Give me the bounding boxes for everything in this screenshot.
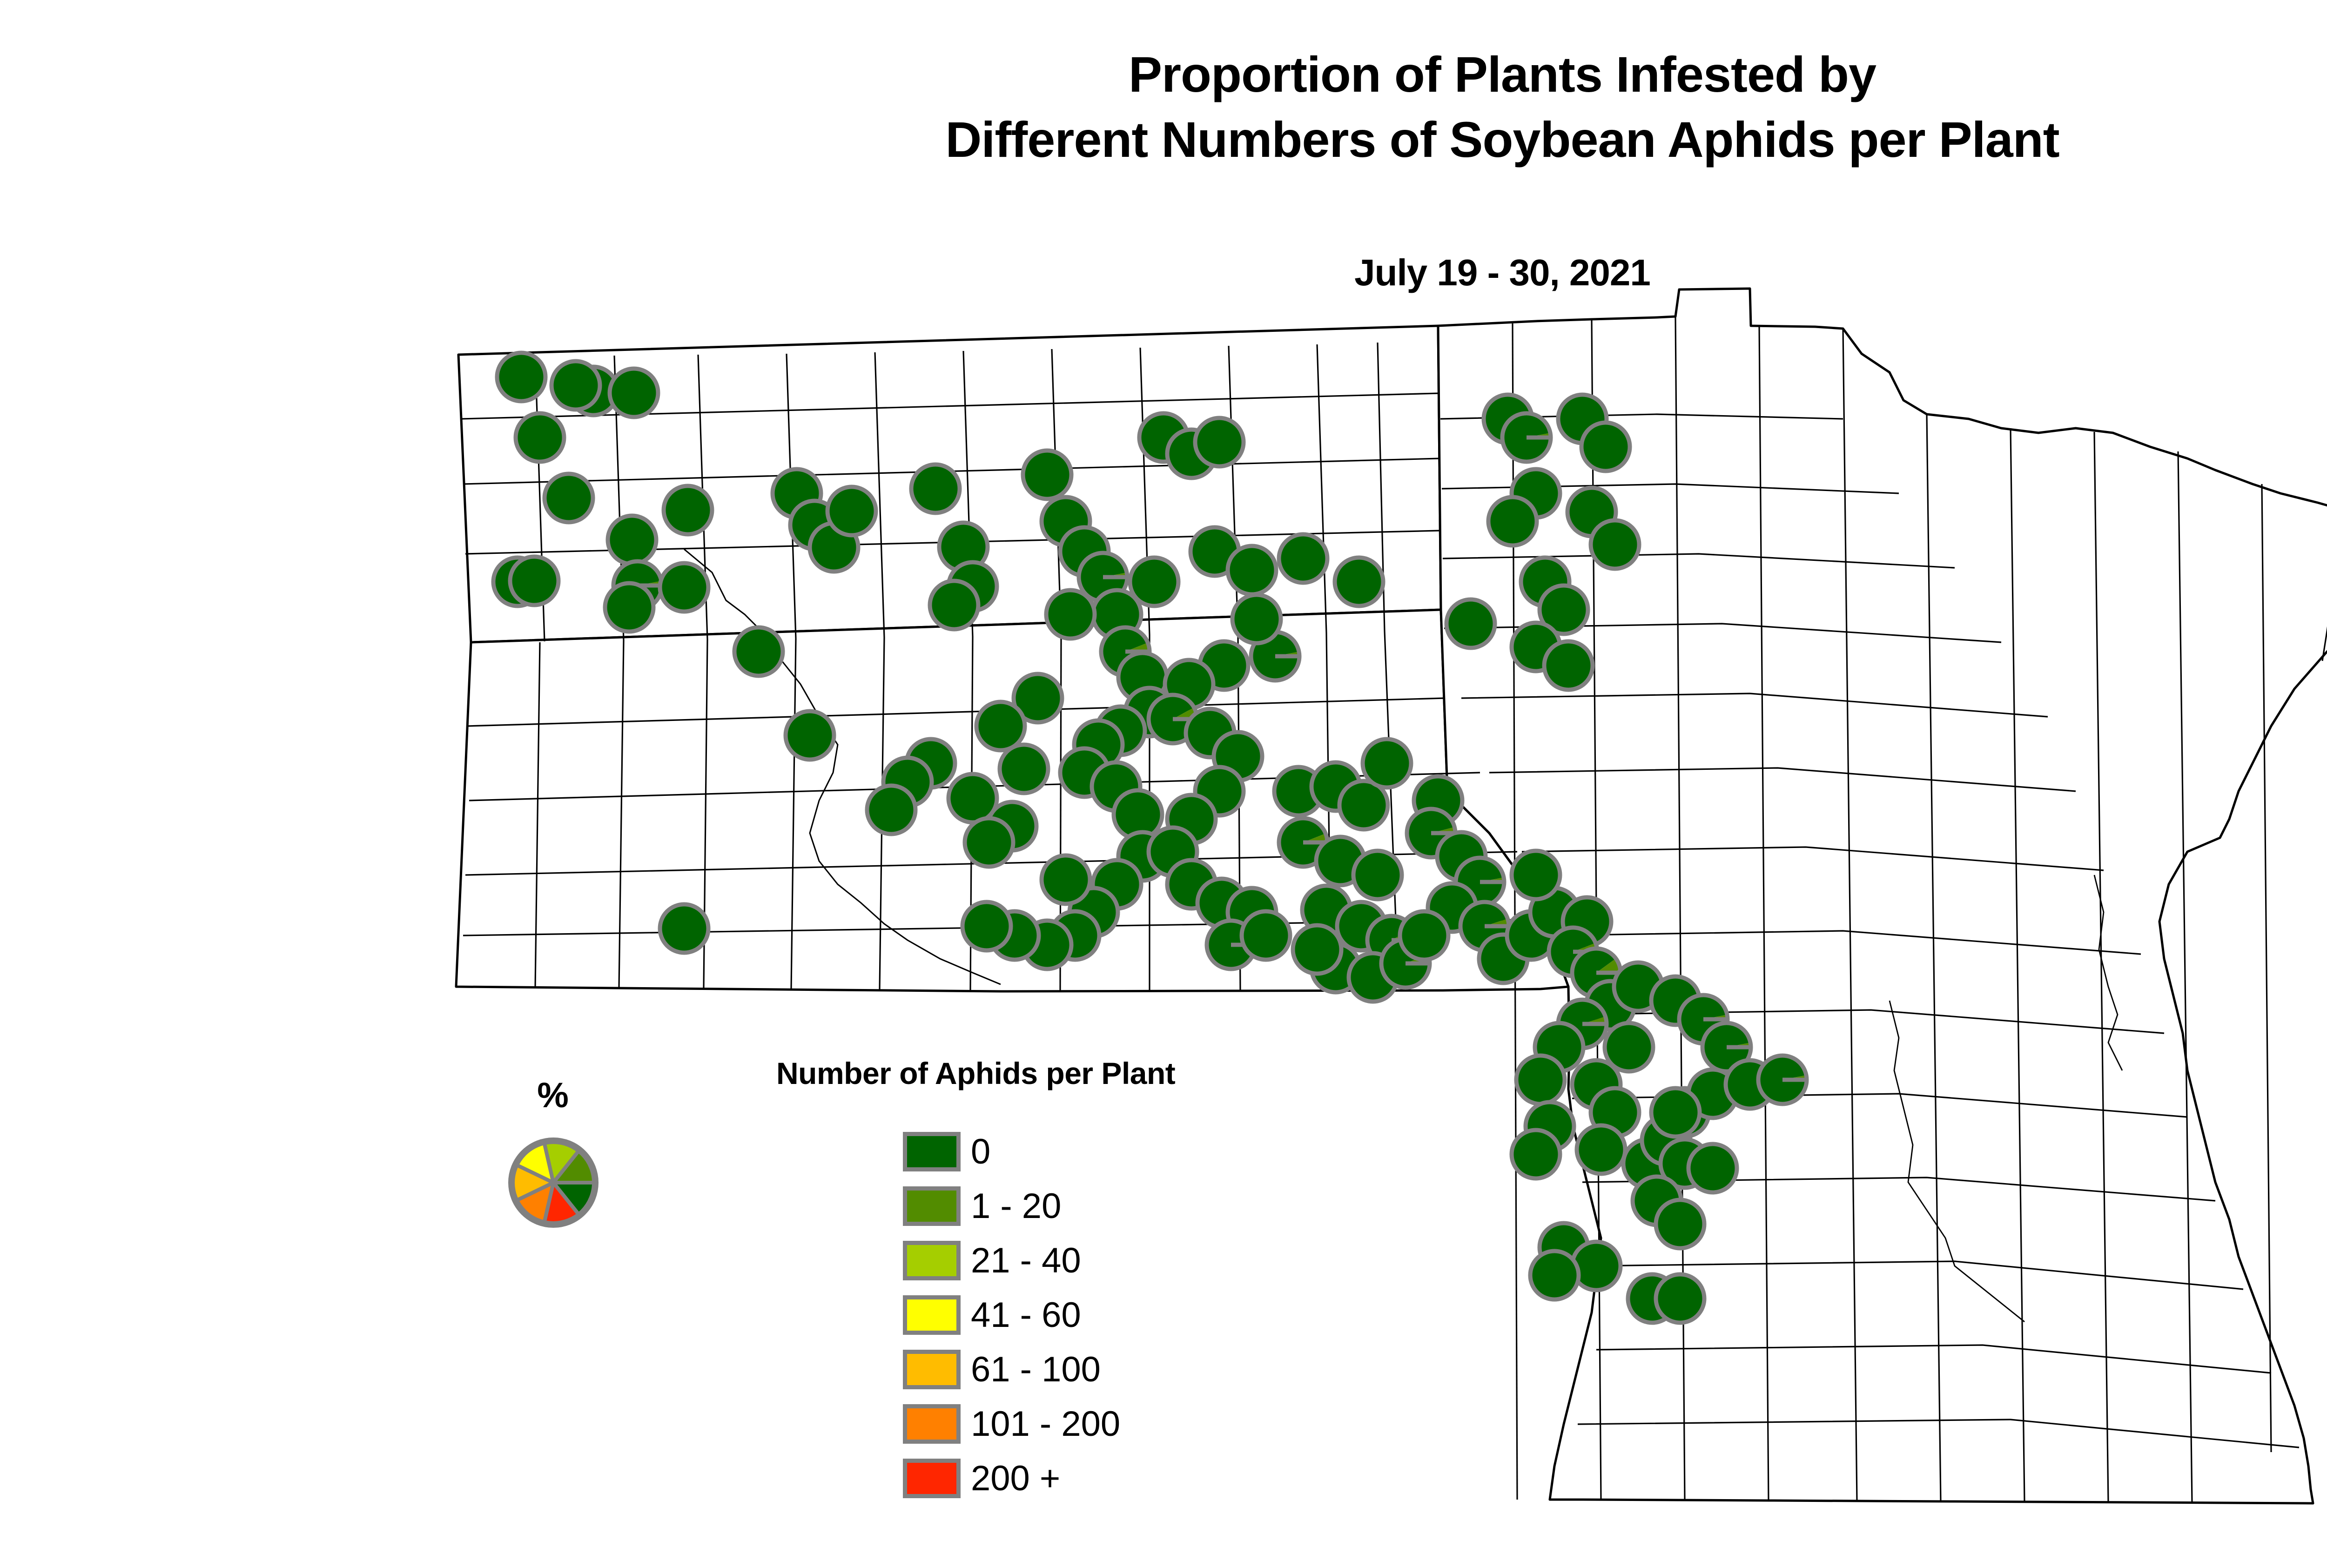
site-pie [1228, 546, 1276, 594]
legend-row: 21 - 40 [903, 1233, 1175, 1288]
legend: Number of Aphids per Plant 01 - 2021 - 4… [776, 1056, 1175, 1506]
legend-heading: Number of Aphids per Plant [776, 1056, 1175, 1091]
site-pie [497, 353, 545, 401]
site-pie [551, 361, 600, 410]
legend-row: 101 - 200 [903, 1397, 1175, 1451]
legend-color-swatch [903, 1241, 961, 1280]
site-pie [962, 902, 1011, 950]
site-pie [1591, 520, 1639, 569]
site-pie [1530, 1251, 1579, 1299]
legend-label: 21 - 40 [971, 1243, 1081, 1279]
site-pie [1502, 413, 1551, 462]
site-pie [911, 464, 960, 513]
legend-label: 1 - 20 [971, 1189, 1061, 1224]
site-pie [930, 581, 978, 629]
site-pie [734, 627, 783, 676]
legend-row: 200 + [903, 1451, 1175, 1506]
site-pie [1400, 911, 1448, 960]
site-pie [827, 487, 876, 535]
site-pie [1488, 497, 1537, 545]
legend-color-swatch [903, 1350, 961, 1389]
legend-row: 1 - 20 [903, 1179, 1175, 1233]
percent-symbol-label: % [499, 1075, 606, 1116]
aphid-map-figure: Proportion of Plants Infested by Differe… [0, 0, 2327, 1568]
legend-row: 41 - 60 [903, 1288, 1175, 1342]
percent-key: % [499, 1075, 606, 1232]
site-pie [786, 711, 834, 760]
site-pie [510, 557, 558, 605]
site-pie [1046, 590, 1095, 639]
site-pie [1000, 745, 1048, 793]
site-pie [1656, 1274, 1704, 1323]
site-pie [660, 563, 708, 612]
site-pie [1688, 1144, 1737, 1192]
site-pie [1042, 855, 1090, 904]
site-pie [1516, 1056, 1565, 1104]
site-pie [1242, 911, 1290, 960]
site-pie [660, 904, 708, 953]
site-pie [1758, 1056, 1807, 1104]
site-pie [1577, 1125, 1625, 1174]
site-pie [976, 702, 1025, 750]
legend-label: 0 [971, 1134, 990, 1170]
site-pie [867, 786, 915, 834]
legend-color-swatch [903, 1295, 961, 1335]
site-pie [1335, 558, 1383, 606]
site-pie [1512, 1130, 1560, 1178]
site-pie [1544, 641, 1593, 690]
site-pie [610, 369, 658, 417]
legend-row: 0 [903, 1124, 1175, 1179]
legend-color-swatch [903, 1404, 961, 1444]
legend-color-swatch [903, 1132, 961, 1171]
site-pie [965, 818, 1013, 867]
site-pie [608, 516, 656, 564]
legend-rows: 01 - 2021 - 4041 - 6061 - 100101 - 20020… [903, 1124, 1175, 1506]
site-pie [1023, 451, 1071, 499]
site-pie [1293, 925, 1341, 974]
site-pie [605, 583, 653, 632]
site-pie [545, 474, 593, 522]
site-pie [1353, 851, 1402, 899]
legend-color-swatch [903, 1459, 961, 1498]
site-pie [1512, 851, 1560, 899]
site-pie [1232, 595, 1281, 643]
site-pie [516, 413, 564, 462]
legend-label: 61 - 100 [971, 1352, 1101, 1387]
legend-color-swatch [903, 1186, 961, 1226]
legend-label: 200 + [971, 1461, 1060, 1496]
site-pie [1279, 534, 1327, 583]
site-pie [1130, 558, 1178, 606]
site-pie [1581, 423, 1630, 471]
legend-label: 101 - 200 [971, 1406, 1120, 1442]
legend-label: 41 - 60 [971, 1298, 1081, 1333]
site-pie [1446, 599, 1495, 648]
site-pie [1363, 739, 1411, 787]
percent-sample-pie [507, 1136, 600, 1229]
site-pie [1651, 1088, 1700, 1137]
legend-row: 61 - 100 [903, 1342, 1175, 1397]
site-pie [1195, 418, 1244, 466]
site-pie [1605, 1023, 1653, 1071]
site-pie [664, 486, 712, 534]
site-pie [1656, 1200, 1704, 1248]
